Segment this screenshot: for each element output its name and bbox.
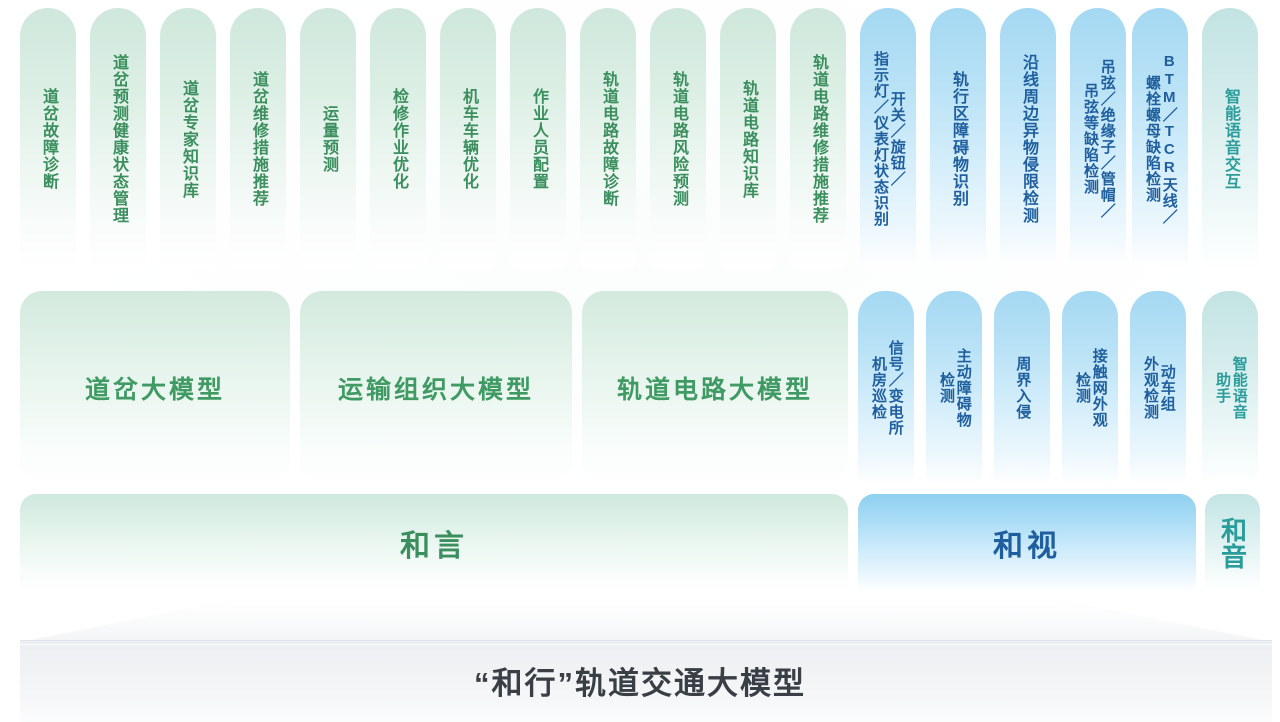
- application-pill-label: 道岔故障诊断: [39, 88, 57, 190]
- application-pill[interactable]: 轨行区障碍物识别: [930, 8, 986, 270]
- application-pill[interactable]: 道岔预测健康状态管理: [90, 8, 146, 270]
- application-pill[interactable]: 轨道电路维修措施推荐: [790, 8, 846, 270]
- capability-pill[interactable]: 动车组 外观检测: [1130, 291, 1186, 485]
- capability-pill[interactable]: 周界入侵: [994, 291, 1050, 485]
- base-platform-top-surface: [0, 596, 1280, 642]
- application-pill-label: 轨行区障碍物识别: [949, 71, 967, 207]
- foundation-bar-label: 和视: [993, 521, 1061, 565]
- foundation-bar-heshi[interactable]: 和视: [858, 494, 1196, 592]
- application-pill-label: 开关／旋钮／ 指示灯／仪表灯状态识别: [871, 51, 905, 227]
- application-pill[interactable]: 沿线周边异物侵限检测: [1000, 8, 1056, 270]
- application-pill[interactable]: 吊弦／绝缘子／管帽／ 吊弦等缺陷检测: [1070, 8, 1126, 270]
- model-block[interactable]: 道岔大模型: [20, 291, 290, 485]
- base-platform: “和行”轨道交通大模型: [0, 596, 1280, 721]
- diagram-canvas: 道岔故障诊断 道岔预测健康状态管理 道岔专家知识库 道岔维修措施推荐 运量预测 …: [0, 0, 1280, 721]
- application-pill-label: 作业人员配置: [529, 88, 547, 190]
- application-pill[interactable]: 道岔维修措施推荐: [230, 8, 286, 270]
- application-pill[interactable]: BTM／TCR天线／ 螺栓螺母缺陷检测: [1132, 8, 1188, 270]
- capability-pill-label: 主动障碍物 检测: [937, 348, 971, 428]
- application-pill-label: 机车车辆优化: [459, 88, 477, 190]
- application-pill-label: 轨道电路故障诊断: [599, 71, 617, 207]
- application-pill-label: 沿线周边异物侵限检测: [1019, 54, 1037, 224]
- application-pill[interactable]: 开关／旋钮／ 指示灯／仪表灯状态识别: [860, 8, 916, 270]
- page-title: “和行”轨道交通大模型: [0, 640, 1280, 721]
- application-pill[interactable]: 轨道电路知识库: [720, 8, 776, 270]
- application-pill[interactable]: 轨道电路风险预测: [650, 8, 706, 270]
- capability-pill-label: 动车组 外观检测: [1141, 356, 1175, 420]
- foundation-bar-label: 和言: [400, 521, 468, 565]
- application-pill[interactable]: 检修作业优化: [370, 8, 426, 270]
- application-pill-label: 轨道电路风险预测: [669, 71, 687, 207]
- application-pill[interactable]: 运量预测: [300, 8, 356, 270]
- capability-pill[interactable]: 信号／变电所 机房巡检: [858, 291, 914, 485]
- application-pill-label: 智能语音交互: [1221, 88, 1239, 190]
- model-block-label: 运输组织大模型: [338, 370, 534, 406]
- model-block[interactable]: 运输组织大模型: [300, 291, 572, 485]
- model-block-label: 轨道电路大模型: [617, 370, 813, 406]
- foundation-bar-heyan[interactable]: 和言: [20, 494, 848, 592]
- foundation-bar-label: 和音: [1220, 517, 1246, 569]
- application-pill-label: 检修作业优化: [389, 88, 407, 190]
- model-block-label: 道岔大模型: [85, 370, 225, 406]
- application-pill-label: 道岔预测健康状态管理: [109, 54, 127, 224]
- application-pill-label: 轨道电路知识库: [739, 80, 757, 199]
- application-pill[interactable]: 道岔专家知识库: [160, 8, 216, 270]
- application-pill[interactable]: 道岔故障诊断: [20, 8, 76, 270]
- application-pill-label: 吊弦／绝缘子／管帽／ 吊弦等缺陷检测: [1081, 59, 1115, 219]
- capability-pill[interactable]: 接触网外观 检测: [1062, 291, 1118, 485]
- foundation-bar-heyin[interactable]: 和音: [1205, 494, 1260, 592]
- model-block[interactable]: 轨道电路大模型: [582, 291, 848, 485]
- capability-pill-label: 接触网外观 检测: [1073, 348, 1107, 428]
- capability-pill[interactable]: 主动障碍物 检测: [926, 291, 982, 485]
- application-pill[interactable]: 轨道电路故障诊断: [580, 8, 636, 270]
- capability-pill-label: 智能语音 助手: [1213, 356, 1247, 420]
- application-pill-label: 运量预测: [319, 105, 337, 173]
- application-pill-label: 道岔专家知识库: [179, 80, 197, 199]
- application-pill-label: BTM／TCR天线／ 螺栓螺母缺陷检测: [1143, 53, 1177, 225]
- application-pill[interactable]: 机车车辆优化: [440, 8, 496, 270]
- application-pill[interactable]: 作业人员配置: [510, 8, 566, 270]
- application-pill-label: 轨道电路维修措施推荐: [809, 54, 827, 224]
- capability-pill[interactable]: 智能语音 助手: [1202, 291, 1258, 485]
- capability-pill-label: 信号／变电所 机房巡检: [869, 340, 903, 436]
- capability-pill-label: 周界入侵: [1014, 356, 1031, 420]
- application-pill[interactable]: 智能语音交互: [1202, 8, 1258, 270]
- application-pill-label: 道岔维修措施推荐: [249, 71, 267, 207]
